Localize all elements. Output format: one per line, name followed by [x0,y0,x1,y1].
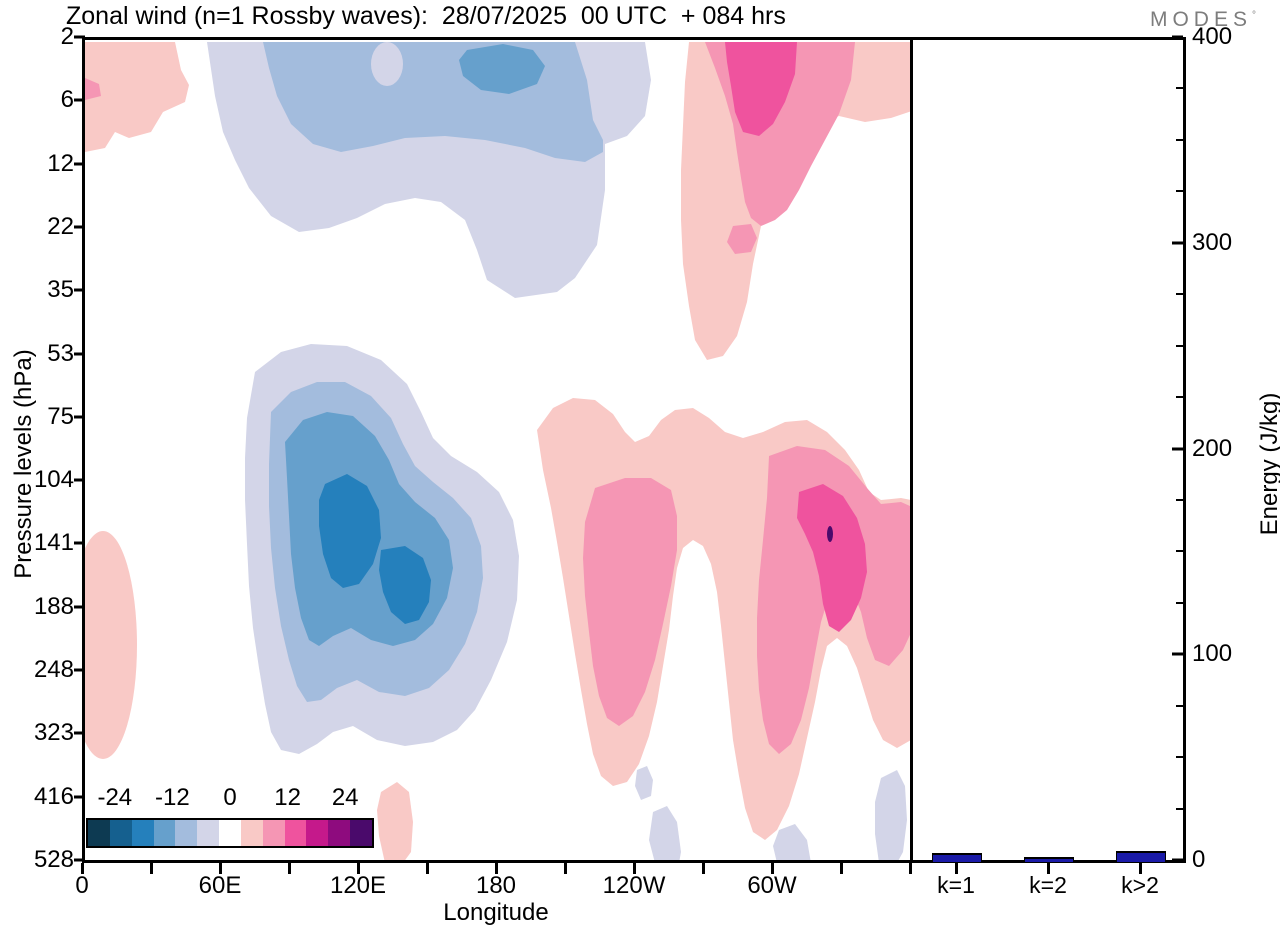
panel-divider [910,37,913,863]
longitude-tick-label: 180 [476,872,516,900]
colorbar-swatch [175,820,197,846]
longitude-tick-mark [909,863,912,874]
colorbar-swatch [88,820,110,846]
longitude-tick-mark [426,863,429,874]
energy-minor-tick [1176,293,1184,295]
longitude-tick-mark [564,863,567,874]
colorbar-swatch [132,820,154,846]
right-axis-title: Energy (J/kg) [1256,294,1280,634]
longitude-tick-label: 0 [75,872,88,900]
colorbar[interactable] [86,818,374,848]
longitude-tick-label: 120E [330,872,386,900]
contour-plot-panel [82,37,913,863]
right-panel-top-axis [910,37,1186,40]
pressure-tick-label: 6 [2,86,74,114]
pressure-tick-mark [74,669,85,672]
contour-field [85,40,913,863]
pressure-tick-mark [74,415,85,418]
colorbar-swatch [219,820,241,846]
energy-minor-tick [1176,808,1184,810]
contour-band-neglavender [875,770,907,863]
pressure-tick-mark [74,542,85,545]
contour-hole-lavender [371,42,403,86]
longitude-tick-label: 120W [603,872,666,900]
colorbar-swatch [197,820,219,846]
right-panel-axis-line [1183,37,1186,863]
energy-minor-tick [1176,756,1184,758]
contour-band-neglavender [649,806,681,863]
chart-title: Zonal wind (n=1 Rossby waves): 28/07/202… [66,2,786,31]
pressure-tick-mark [74,732,85,735]
contour-band-pospale [377,782,413,863]
longitude-tick-mark [840,863,843,874]
y-axis-title: Pressure levels (hPa) [10,294,38,634]
longitude-tick-mark [288,863,291,874]
colorbar-tick-label: 0 [223,784,236,812]
longitude-tick-label: 60E [199,872,242,900]
colorbar-tick-label: -24 [97,784,132,812]
pressure-tick-label: 528 [2,846,74,874]
colorbar-swatch [263,820,285,846]
energy-minor-tick [1176,396,1184,398]
energy-bar-label: k=1 [937,872,975,899]
pressure-tick-mark [74,162,85,165]
longitude-tick-mark [702,863,705,874]
contour-band-neglavender [635,766,653,800]
colorbar-swatch [350,820,372,846]
energy-tick-label: 0 [1192,846,1205,874]
pressure-tick-label: 416 [2,783,74,811]
energy-tick-label: 100 [1192,640,1232,668]
pressure-tick-mark [74,795,85,798]
energy-bar-label: k=2 [1029,872,1067,899]
pressure-tick-mark [74,605,85,608]
energy-tick-mark [1172,859,1183,862]
energy-tick-label: 300 [1192,229,1232,257]
energy-minor-tick [1176,550,1184,552]
pressure-tick-mark [74,225,85,228]
pressure-tick-label: 12 [2,150,74,178]
contour-band-pospale [85,531,137,759]
longitude-tick-mark [150,863,153,874]
energy-bar[interactable] [932,853,982,862]
colorbar-swatch [241,820,263,846]
colorbar-swatch [110,820,132,846]
energy-minor-tick [1176,602,1184,604]
energy-minor-tick [1176,705,1184,707]
energy-bar-label: k>2 [1121,872,1159,899]
colorbar-swatch [328,820,350,846]
colorbar-swatch [285,820,307,846]
energy-minor-tick [1176,499,1184,501]
colorbar-tick-label: 24 [332,784,359,812]
colorbar-swatch [306,820,328,846]
energy-bar[interactable] [1116,851,1166,862]
pressure-tick-label: 22 [2,213,74,241]
x-axis-title: Longitude [82,899,910,927]
pressure-tick-mark [74,36,85,39]
pressure-tick-mark [74,479,85,482]
pressure-tick-mark [74,352,85,355]
longitude-tick-label: 60W [747,872,796,900]
energy-tick-mark [1172,447,1183,450]
energy-minor-tick [1176,139,1184,141]
pressure-tick-label: 2 [2,23,74,51]
pressure-tick-label: 323 [2,719,74,747]
energy-tick-mark [1172,36,1183,39]
pressure-tick-label: 248 [2,656,74,684]
energy-minor-tick [1176,345,1184,347]
brand-mark: ° [1252,10,1256,21]
contour-core-dot [827,526,833,542]
colorbar-tick-label: 12 [274,784,301,812]
energy-minor-tick [1176,190,1184,192]
energy-minor-tick [1176,87,1184,89]
energy-bar[interactable] [1024,857,1074,862]
energy-tick-mark [1172,241,1183,244]
contour-band-pospale [85,42,189,152]
pressure-tick-mark [74,289,85,292]
colorbar-tick-label: -12 [155,784,190,812]
energy-tick-label: 400 [1192,23,1232,51]
pressure-tick-mark [74,99,85,102]
energy-tick-label: 200 [1192,435,1232,463]
colorbar-swatch [154,820,176,846]
energy-tick-mark [1172,653,1183,656]
pressure-tick-mark [74,859,85,862]
contour-band-neglavender [773,824,811,863]
